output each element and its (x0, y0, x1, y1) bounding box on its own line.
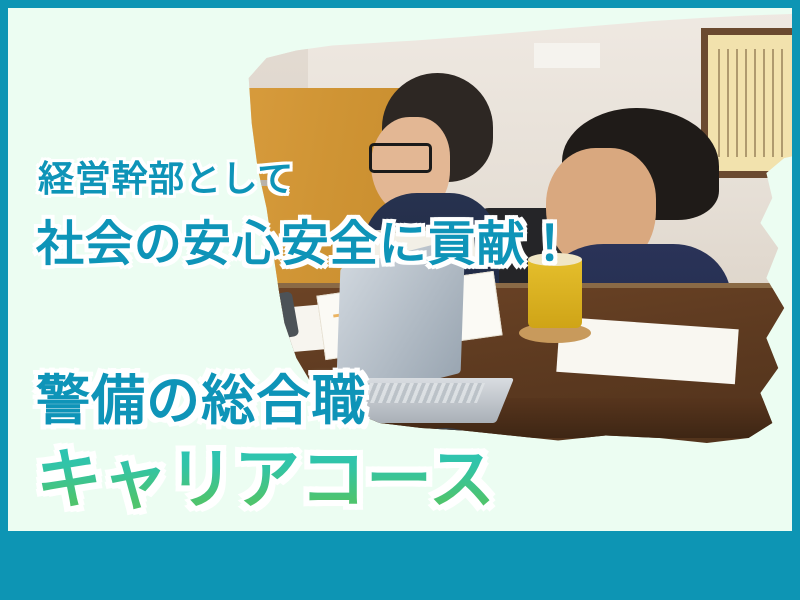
mobile-phone (213, 291, 300, 350)
headline-line-4-gradient: キャリアコース (36, 426, 495, 522)
headline-line-3: 警備の総合職 (36, 356, 366, 435)
wall-note (534, 43, 599, 68)
footer-bar: タイヨー株式会社 (0, 531, 800, 600)
glasses-icon (369, 143, 432, 172)
headline-line-1: 経営幹部として (38, 150, 294, 202)
recruitment-banner: 経営幹部として 社会の安心安全に貢献！ 警備の総合職 キャリアコース キャリアコ… (0, 0, 800, 600)
dark-equipment (567, 438, 774, 508)
headline-line-2: 社会の安心安全に貢献！ (36, 204, 575, 274)
content-panel: 経営幹部として 社会の安心安全に貢献！ 警備の総合職 キャリアコース キャリアコ… (8, 8, 792, 531)
headline-line-4: キャリアコース キャリアコース (36, 426, 495, 522)
